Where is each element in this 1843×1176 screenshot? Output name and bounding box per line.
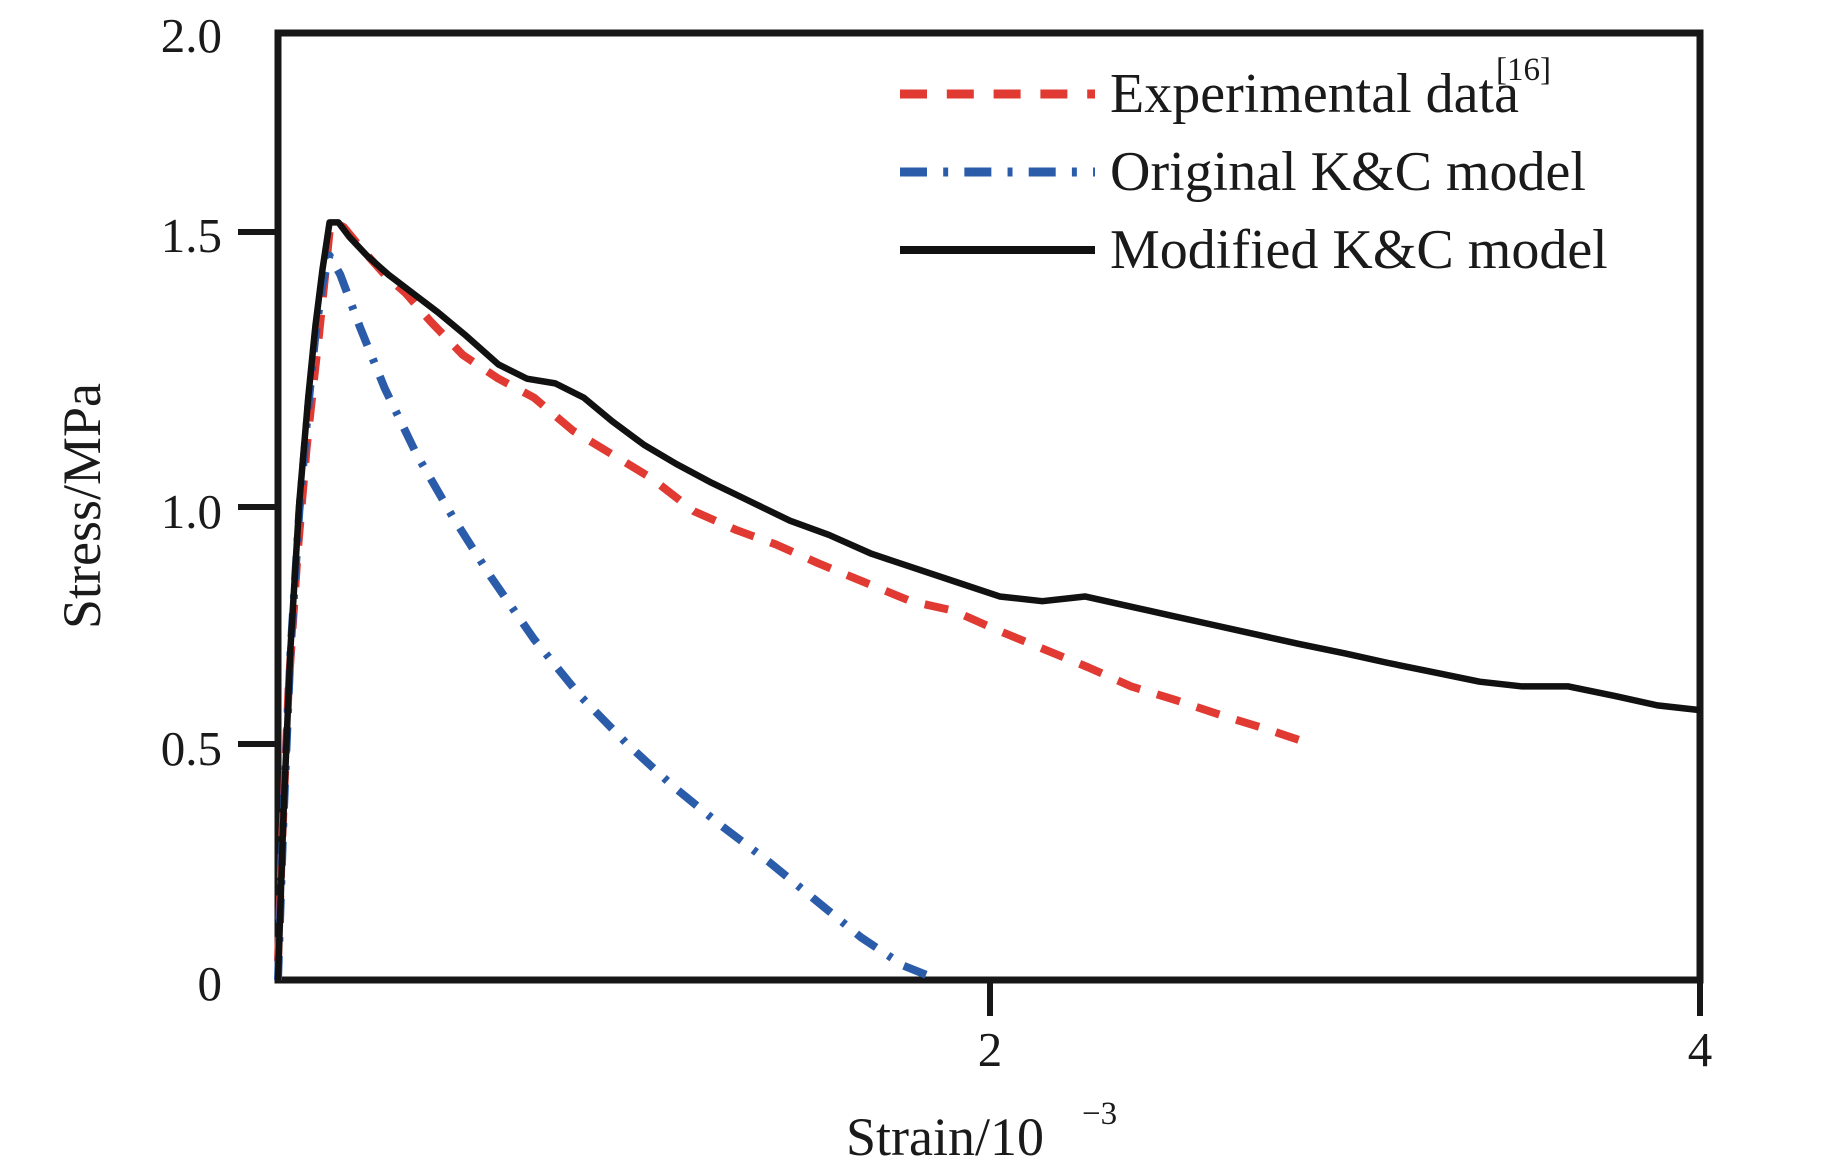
series-original-kc — [278, 256, 939, 980]
legend-label-original[interactable]: Original K&C model — [1110, 141, 1586, 203]
x-tick-label-2: 2 — [978, 1022, 1003, 1077]
legend: Experimental data [16] Original K&C mode… — [900, 52, 1608, 281]
y-axis-ticks — [238, 232, 278, 744]
y-tick-label-0: 0 — [198, 956, 223, 1011]
stress-strain-figure: 2.0 1.5 1.0 0.5 0 2 4 Stress/MPa Strain/… — [0, 0, 1843, 1176]
y-axis-title: Stress/MPa — [52, 383, 112, 629]
legend-label-experimental[interactable]: Experimental data — [1110, 63, 1519, 125]
series-experimental — [278, 222, 1309, 961]
x-axis-ticks — [990, 980, 1700, 1016]
x-axis-title-main: Strain/10 — [846, 1107, 1044, 1167]
y-tick-label-2.0: 2.0 — [161, 8, 222, 63]
y-tick-label-0.5: 0.5 — [161, 721, 222, 776]
y-tick-label-1.5: 1.5 — [161, 208, 222, 263]
y-tick-label-1.0: 1.0 — [161, 484, 222, 539]
legend-label-modified[interactable]: Modified K&C model — [1110, 219, 1608, 281]
x-axis-title-exponent: −3 — [1082, 1096, 1117, 1132]
x-tick-labels: 2 4 — [978, 1022, 1713, 1077]
legend-superscript-experimental: [16] — [1496, 52, 1551, 88]
x-axis-title: Strain/10 −3 — [846, 1096, 1117, 1167]
y-tick-labels: 2.0 1.5 1.0 0.5 0 — [161, 8, 222, 1011]
series-group — [278, 222, 1700, 980]
x-tick-label-4: 4 — [1688, 1022, 1713, 1077]
chart-canvas: 2.0 1.5 1.0 0.5 0 2 4 Stress/MPa Strain/… — [0, 0, 1843, 1176]
series-modified-kc — [278, 222, 1700, 980]
